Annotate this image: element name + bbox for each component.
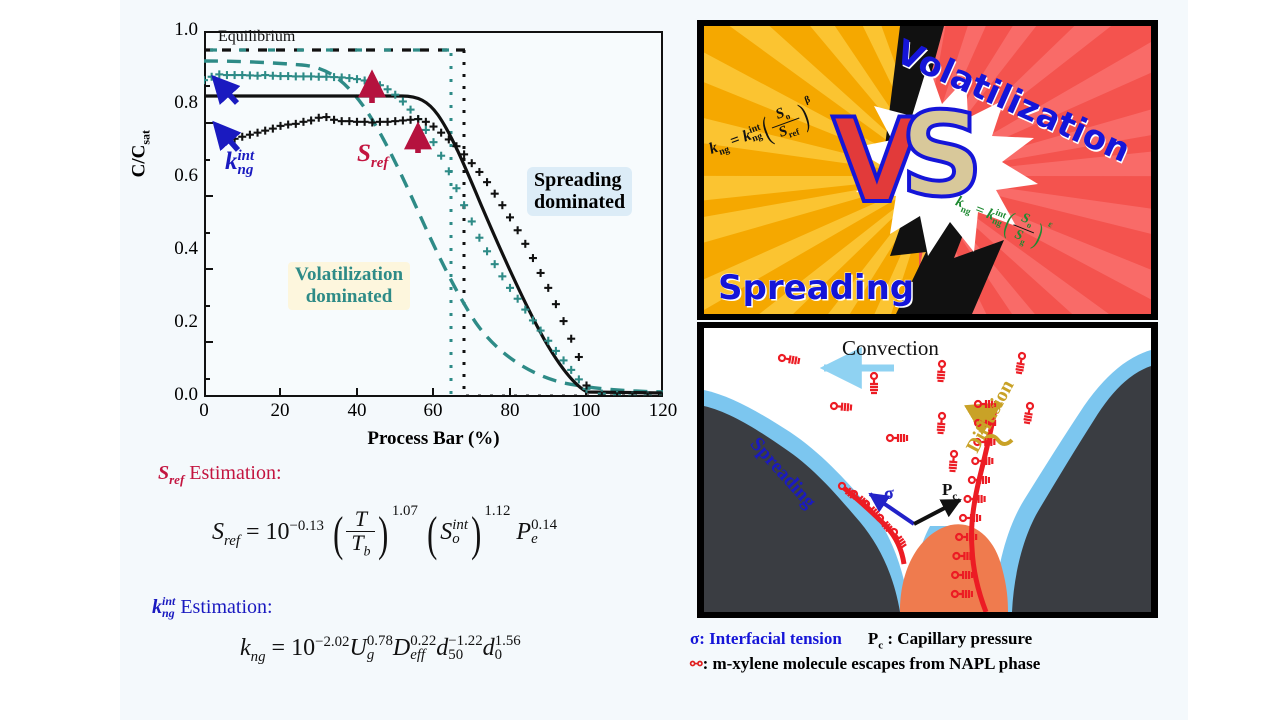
volatilization-dominated-line2: dominated [306,286,393,307]
y-tick: 1.0 [174,19,198,41]
axis-ticks [204,50,586,397]
vs-letter-s: S [900,98,984,214]
kng-d50-subscript: 50 [448,648,482,662]
versus-panel: V S Spreading Volatilization kng = kintn… [697,20,1158,320]
legend-pc-text: : Capillary pressure [883,629,1032,648]
kng-head-symbol: k [152,596,162,618]
sref-symbol: S [357,140,371,167]
kng-d0-exponent: 1.56 [495,634,521,648]
kng-head-text: Estimation: [175,596,272,618]
legend-row-1: σ: Interfacial tensionPc : Capillary pre… [690,628,1170,653]
sref-fraction: TTb [346,508,375,559]
sref-equation: Sref = 10−0.13 (TTb)1.07 (Sinto)1.12 P0.… [212,505,557,562]
sref-eq-exponent: −0.13 [290,518,324,534]
figure-root: C/Csat 1.0 0.8 0.6 0.4 0.2 0.0 [0,0,1280,720]
kng-superscript-stack: intng [238,149,255,178]
open-paren2-icon: ( [427,505,437,562]
volatilization-dominated-line1: Volatilization [295,264,403,285]
sref-pe-symbol: P [516,519,531,545]
kng-ug-exponent: 0.78 [367,634,393,648]
sref-frac-den-symbol: T [351,530,363,555]
sref-head-text: Estimation: [184,462,281,484]
kng-ug-symbol: U [350,635,367,661]
x-tick: 120 [649,400,678,422]
spreading-dominated-label: Spreading dominated [527,167,632,216]
legend-pc-symbol: P [868,629,878,648]
sref-so-symbol: S [440,519,452,545]
kng-symbol: k [225,148,238,175]
sref-head-subscript: ref [169,472,184,487]
kng-ug-subscript: g [367,648,393,662]
x-tick: 80 [501,400,520,422]
sref-pe-script: 0.14e [531,518,557,547]
x-tick: 20 [271,400,290,422]
kng-deff-symbol: D [393,635,410,661]
close-paren-icon: ) [379,505,389,562]
kng-eq-equals: = [272,635,286,661]
kng-superscript: int [238,149,255,163]
sref-so-script: into [452,518,468,547]
y-tick: 0.4 [174,238,198,260]
kng-d50-exponent: −1.22 [448,634,482,648]
y-tick: 0.0 [174,384,198,406]
x-tick: 0 [199,400,209,422]
x-tick: 60 [424,400,443,422]
x-tick: 40 [348,400,367,422]
kng-deff-script: 0.22eff [410,634,436,663]
kng-eq-base: 10 [291,635,315,661]
sref-annotation: Sref [357,140,388,172]
legend-sigma-text: : Interfacial tension [699,629,842,648]
sref-subscript: ref [371,155,389,171]
kng-d50-symbol: d [436,635,448,661]
y-tick: 0.8 [174,92,198,114]
close-paren2-icon: ) [471,505,481,562]
y-tick: 0.6 [174,165,198,187]
sref-pe-subscript: e [531,532,557,546]
molecule-icon: ⚯ [690,657,703,673]
spreading-markers [231,113,663,397]
kng-estimation-heading: kintng Estimation: [152,596,273,619]
chart-x-tick-row: 0 20 40 60 80 100 120 [204,400,663,426]
figure-legend: σ: Interfacial tensionPc : Capillary pre… [690,628,1170,676]
kng-d0-subscript: 0 [495,648,521,662]
sref-estimation-heading: Sref Estimation: [158,462,282,488]
kng-d0-script: 1.560 [495,634,521,663]
sref-eq-lhs: S [212,519,224,545]
sref-so-exponent: 1.12 [484,503,510,520]
sref-pe-exponent: 0.14 [531,518,557,532]
kng-deff-exponent: 0.22 [410,634,436,648]
legend-sigma-icon: σ [690,629,699,648]
kng-ug-script: 0.78g [367,634,393,663]
spreading-dominated-line1: Spreading [534,169,621,191]
kng-d50-script: −1.2250 [448,634,482,663]
sref-head-symbol: S [158,462,169,484]
kng-head-subscript: ng [162,608,175,619]
kng-eq-lhs: k [240,635,251,661]
open-paren-icon: ( [333,505,343,562]
sref-so-superscript: int [452,518,468,532]
kng-equation: kng = 10−2.02U0.78gD0.22effd−1.2250d1.56… [240,634,521,666]
sref-frac-numerator: T [346,508,375,532]
kng-subscript: ng [238,163,255,177]
pore-scale-inner: Convection Spreading Diffusion σ Pc [704,328,1151,612]
versus-panel-inner: V S Spreading Volatilization kng = kintn… [704,26,1151,314]
x-tick: 100 [572,400,601,422]
kng-head-script: intng [162,596,175,619]
blue-arrow-upper [215,79,237,103]
kng-d0-symbol: d [483,635,495,661]
equilibrium-label: Equilibrium [218,28,295,46]
volatilization-markers [204,70,663,397]
volatilization-dominated-label: Volatilization dominated [288,262,410,310]
kng-int-annotation: kintng [225,148,254,177]
kng-eq-exponent: −2.02 [315,634,349,650]
sref-frac-exponent: 1.07 [392,503,418,520]
chart-y-tick-column: 1.0 0.8 0.6 0.4 0.2 0.0 [148,31,198,397]
spreading-dominated-line2: dominated [534,191,625,213]
y-tick: 0.2 [174,311,198,333]
kng-eq-lhs-sub: ng [251,649,266,665]
kng-deff-subscript: eff [410,648,436,662]
sref-frac-den-sub: b [364,544,371,559]
legend-row-2: ⚯: m-xylene molecule escapes from NAPL p… [690,653,1170,676]
pore-scale-panel: Convection Spreading Diffusion σ Pc [697,322,1158,618]
pore-scale-svg [704,328,1151,612]
sref-eq-base: 10 [266,519,290,545]
sref-eq-equals: = [246,519,260,545]
sref-eq-lhs-sub: ref [224,533,240,549]
y-axis-label-main: C/C [129,145,150,178]
chart-x-axis-label: Process Bar (%) [204,428,663,450]
sref-so-subscript: o [452,532,468,546]
legend-molecule-text: : m-xylene molecule escapes from NAPL ph… [703,654,1041,673]
